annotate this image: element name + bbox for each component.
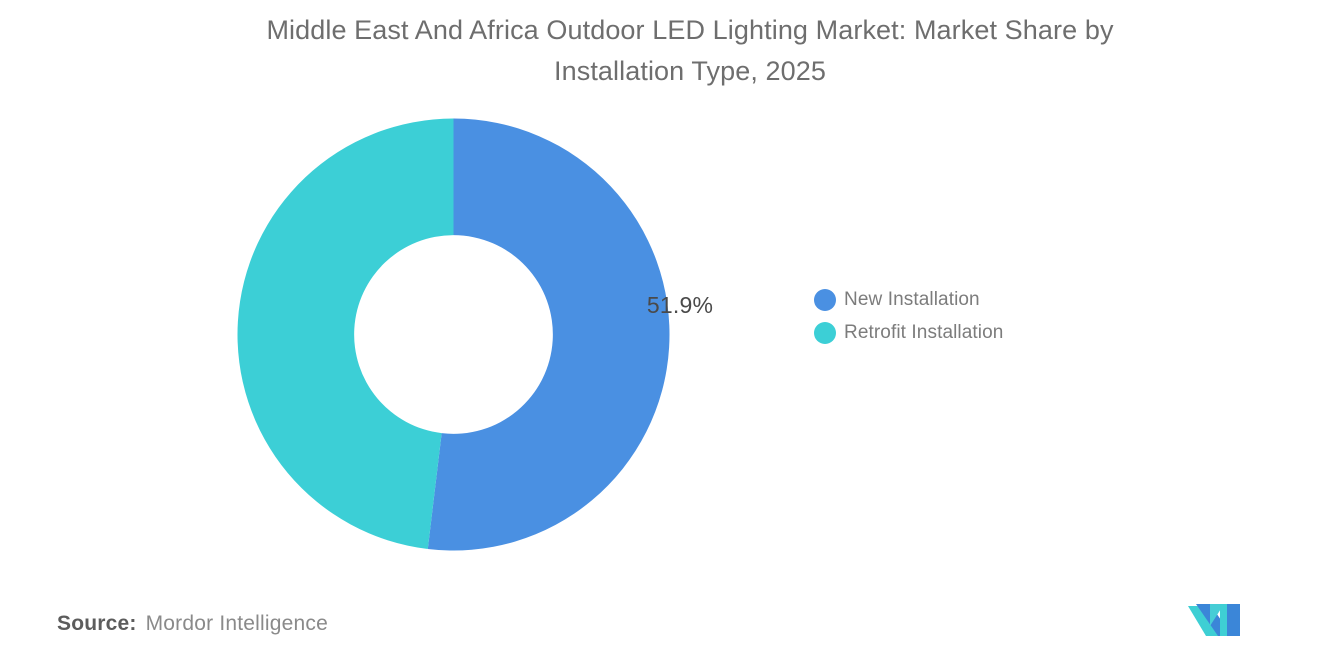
- logo-shape-blue-n: [1227, 604, 1240, 636]
- donut-slice-1[interactable]: New Installation 51.9%: [428, 119, 670, 551]
- donut-slice-group: New Installation 51.9%Retrofit Installat…: [237, 119, 669, 551]
- legend-label-retrofit-installation: Retrofit Installation: [844, 322, 1003, 344]
- donut-slice-2[interactable]: Retrofit Installation 48.1%: [237, 119, 453, 549]
- chart-title-line-1: Middle East And Africa Outdoor LED Light…: [160, 10, 1220, 51]
- slice-label-new-installation: 51.9%: [610, 292, 750, 319]
- chart-title: Middle East And Africa Outdoor LED Light…: [160, 10, 1220, 92]
- legend-swatch-retrofit-installation: [814, 322, 836, 344]
- donut-chart-svg: New Installation 51.9%Retrofit Installat…: [237, 118, 670, 551]
- source-line: Source: Mordor Intelligence: [57, 612, 328, 636]
- source-label: Source:: [57, 612, 137, 636]
- legend-swatch-new-installation: [814, 289, 836, 311]
- legend-label-new-installation: New Installation: [844, 289, 980, 311]
- chart-legend: New Installation Retrofit Installation: [814, 283, 1114, 349]
- legend-item-new-installation[interactable]: New Installation: [814, 283, 1114, 316]
- source-value: Mordor Intelligence: [146, 612, 328, 636]
- legend-item-retrofit-installation[interactable]: Retrofit Installation: [814, 316, 1114, 349]
- logo-svg: [1186, 598, 1252, 638]
- chart-title-line-2: Installation Type, 2025: [160, 51, 1220, 92]
- donut-chart: New Installation 51.9%Retrofit Installat…: [237, 118, 670, 551]
- mordor-intelligence-logo-icon: [1186, 598, 1252, 638]
